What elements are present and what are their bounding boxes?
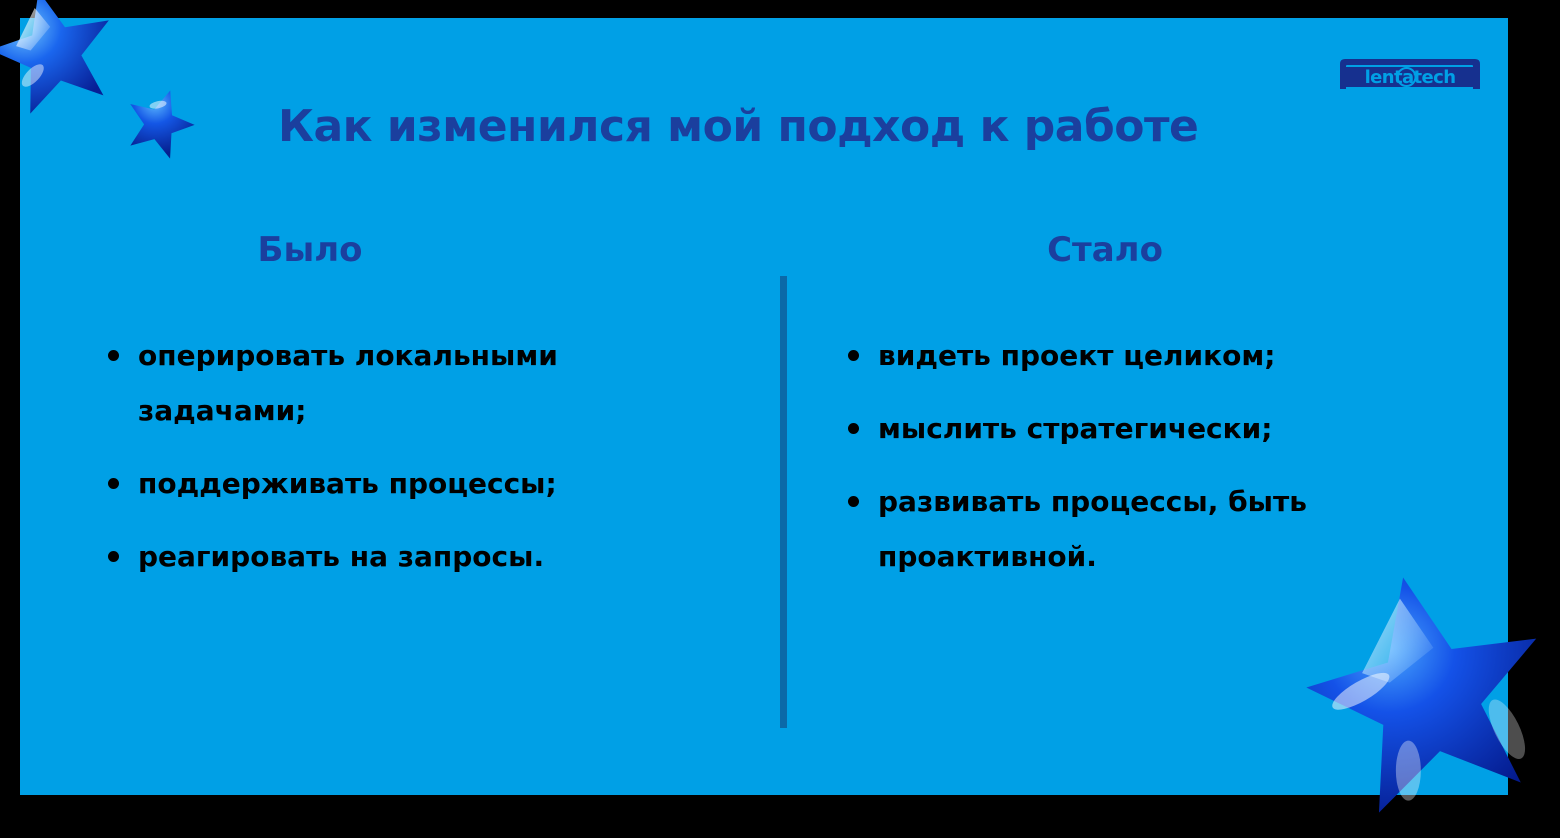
- list-item-text: поддерживать процессы;: [138, 467, 557, 500]
- list-item-text: развивать процессы, быть проактивной.: [878, 485, 1307, 573]
- slide-title: Как изменился мой подход к работе: [278, 101, 1198, 152]
- list-item-text: реагировать на запросы.: [138, 540, 544, 573]
- lentatech-logo: lentatech: [1336, 56, 1484, 92]
- slide-canvas: lentatech Как изменился мой подход к раб…: [0, 0, 1560, 824]
- column-before: Было оперировать локальными задачами; по…: [90, 230, 710, 603]
- column-before-list: оперировать локальными задачами; поддерж…: [90, 328, 710, 585]
- column-after-heading: Стало: [830, 230, 1450, 270]
- list-item-text: мыслить стратегически;: [878, 412, 1272, 445]
- list-item: видеть проект целиком;: [830, 328, 1348, 383]
- list-item-text: оперировать локальными задачами;: [138, 339, 558, 427]
- column-after: Стало видеть проект целиком; мыслить стр…: [830, 230, 1450, 603]
- slide-card: lentatech Как изменился мой подход к раб…: [20, 18, 1508, 795]
- column-after-list: видеть проект целиком; мыслить стратегич…: [830, 328, 1450, 585]
- list-item: реагировать на запросы.: [90, 529, 658, 584]
- bullet-icon: [108, 350, 119, 361]
- comparison-columns: Было оперировать локальными задачами; по…: [20, 230, 1508, 750]
- star-icon: [1279, 542, 1560, 838]
- list-item: мыслить стратегически;: [830, 401, 1348, 456]
- bullet-icon: [848, 496, 859, 507]
- bullet-icon: [108, 478, 119, 489]
- list-item: поддерживать процессы;: [90, 456, 658, 511]
- list-item-text: видеть проект целиком;: [878, 339, 1275, 372]
- bullet-icon: [108, 551, 119, 562]
- bullet-icon: [848, 350, 859, 361]
- bullet-icon: [848, 423, 859, 434]
- list-item: оперировать локальными задачами;: [90, 328, 658, 438]
- column-before-heading: Было: [90, 230, 710, 270]
- list-item: развивать процессы, быть проактивной.: [830, 474, 1348, 584]
